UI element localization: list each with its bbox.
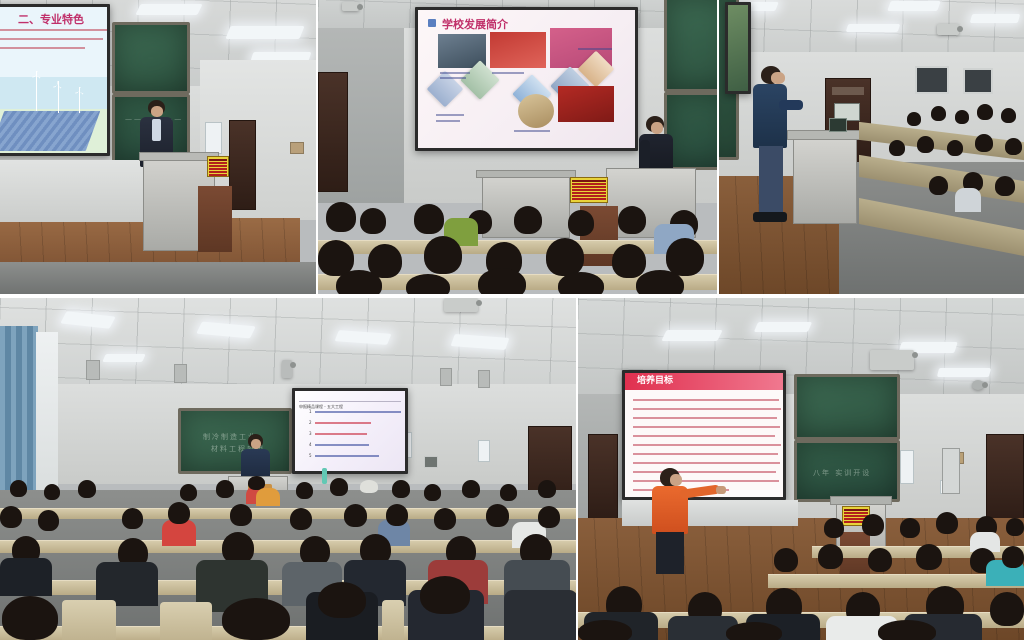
solar-panel-graphic <box>0 111 100 151</box>
slide-label <box>440 77 466 79</box>
slide-label <box>492 72 524 74</box>
ceiling-light <box>225 26 304 39</box>
audience <box>0 474 577 640</box>
slide-logo <box>518 94 554 128</box>
audience-head <box>578 620 632 640</box>
slide-label <box>578 48 612 50</box>
list-text-bar <box>315 411 401 413</box>
presenter-arm <box>779 100 803 110</box>
audience-head <box>386 504 408 526</box>
slide-body-line <box>633 444 781 446</box>
audience-head <box>977 104 993 120</box>
chalkboard: 制冷制造工业 材料工程应用 <box>178 408 292 474</box>
audience-head <box>889 140 905 156</box>
audience-head <box>824 518 844 538</box>
audience-torso <box>955 188 981 212</box>
audience-head <box>907 112 921 126</box>
audience-head <box>878 620 936 640</box>
audience-head <box>538 480 556 498</box>
ceiling-light <box>102 354 146 362</box>
audience-head <box>514 206 542 234</box>
podium <box>793 138 857 224</box>
audience-head <box>936 512 958 534</box>
presenter-face <box>771 72 785 84</box>
panel-divider <box>0 294 1024 298</box>
audience-head <box>2 596 58 640</box>
slide-surface: 申报精品课程 - 五大工程 1 2 3 4 <box>295 391 405 471</box>
list-text-bar <box>315 433 367 435</box>
audience-head <box>568 210 594 236</box>
list-number: 5 <box>309 453 312 458</box>
wall-speaker <box>86 360 100 380</box>
presenter-shirt <box>152 119 161 141</box>
audience-head <box>990 592 1024 626</box>
chalkboard <box>794 374 900 440</box>
wall-speaker <box>440 368 452 386</box>
slide-title-bullet <box>428 19 436 27</box>
list-number: 3 <box>309 431 312 436</box>
audience-head <box>392 480 410 498</box>
stage-riser <box>0 160 150 222</box>
ceiling-light <box>846 24 901 32</box>
audience-torso <box>0 558 52 596</box>
presenter-jacket <box>753 84 787 148</box>
projection-screen: 二、专业特色 <box>0 4 110 156</box>
slide-title: 培养目标 <box>625 373 783 390</box>
wall-notice <box>205 122 222 154</box>
audience-head <box>0 506 22 528</box>
slide-list-item: 3 <box>309 431 367 436</box>
panel-top-center[interactable]: 学校发展简介 <box>318 0 718 296</box>
audience-head <box>917 136 934 153</box>
panel-top-left[interactable]: 二、专业特色 ———— —— <box>0 0 317 296</box>
audience-head <box>916 544 942 570</box>
presenter <box>749 66 801 230</box>
presenter-face <box>651 122 663 134</box>
audience-head <box>1005 138 1022 155</box>
audience-head <box>434 508 456 530</box>
audience <box>578 508 1024 640</box>
audience-head <box>900 518 920 538</box>
door <box>318 72 348 192</box>
list-text-bar <box>315 422 371 424</box>
audience-head <box>360 208 386 234</box>
audience-head <box>931 106 946 121</box>
presenter-legs <box>759 146 783 214</box>
audience-cap <box>360 480 378 493</box>
door-sign <box>478 440 490 462</box>
audience-head <box>862 514 884 536</box>
slide-photo <box>490 32 546 68</box>
audience-head <box>666 238 704 276</box>
projector <box>342 2 359 11</box>
slide-body-line <box>633 417 777 419</box>
panel-divider <box>316 0 318 298</box>
safety-notice-sign[interactable] <box>207 156 229 177</box>
panel-top-right[interactable] <box>719 0 1024 296</box>
presenter-face <box>670 474 682 486</box>
audience-torso <box>504 590 577 640</box>
panel-bottom-left[interactable]: 制冷制造工业 材料工程应用 申报精品课程 - 五大工程 1 2 3 <box>0 298 577 640</box>
equipment-cabinet <box>942 448 960 494</box>
slide-body-line <box>633 399 779 401</box>
slide-label <box>440 72 470 74</box>
audience-head <box>296 482 313 499</box>
audience-head <box>955 110 969 124</box>
slide-list-item: 2 <box>309 420 371 425</box>
ceiling-light <box>661 330 722 341</box>
list-number: 1 <box>309 409 312 414</box>
panel-bottom-right[interactable]: 培养目标 八年 实训开设 <box>578 298 1024 640</box>
slide-title: 二、专业特色 <box>0 11 107 27</box>
bench-row <box>859 122 1024 160</box>
audience-head <box>38 510 59 531</box>
chalkboard <box>664 0 718 92</box>
panel-divider <box>717 0 719 298</box>
audience-head <box>330 478 348 496</box>
audience-head <box>1002 546 1024 568</box>
audience-torso <box>256 488 280 506</box>
audience-head <box>546 238 584 276</box>
slide-body-line <box>0 38 103 40</box>
audience-head <box>612 244 646 278</box>
slide-body-line <box>633 462 780 464</box>
audience-head <box>478 268 526 296</box>
panel-divider <box>576 298 578 640</box>
seat-back <box>62 600 116 640</box>
audience-head <box>406 274 450 296</box>
wall-plate <box>424 456 438 468</box>
chalk-writing: 八年 实训开设 <box>813 467 871 479</box>
wind-turbine-icon <box>31 71 41 111</box>
audience-head <box>44 484 60 500</box>
audience-head <box>500 484 517 501</box>
wall-speaker <box>174 364 187 383</box>
ceiling-light <box>754 322 812 332</box>
dome-camera <box>972 380 984 390</box>
chalkboard <box>112 22 190 94</box>
audience-head <box>929 176 948 195</box>
interior-window <box>915 66 949 94</box>
projection-screen: 学校发展简介 <box>415 7 638 151</box>
presenter-shoes <box>753 212 787 222</box>
wall-notice <box>900 450 914 484</box>
audience-head <box>336 270 382 296</box>
projector <box>870 350 914 370</box>
slide-header: 申报精品课程 - 五大工程 <box>299 393 401 402</box>
wall-speaker <box>478 370 490 388</box>
floor <box>0 262 317 296</box>
wind-turbine-icon <box>75 87 83 113</box>
bench-row <box>859 198 1024 256</box>
audience-head <box>318 582 366 618</box>
seat-back <box>160 602 212 640</box>
audience-head <box>122 508 143 529</box>
ceiling-light <box>937 368 991 377</box>
slide-surface: 学校发展简介 <box>418 10 635 148</box>
audience-head <box>168 502 190 524</box>
audience-head <box>1006 518 1024 536</box>
audience-head <box>774 548 798 572</box>
audience-head <box>462 480 480 498</box>
ceiling-light <box>135 4 202 15</box>
audience-head <box>78 480 96 498</box>
audience-head <box>636 270 684 296</box>
projector <box>444 298 478 312</box>
audience-head <box>538 506 560 528</box>
audience-head <box>290 508 312 530</box>
slide-list-item: 5 <box>309 453 379 458</box>
audience-head <box>726 622 782 640</box>
slide-body-line <box>633 408 781 410</box>
presenter-hand <box>716 486 726 494</box>
podium-top <box>830 496 892 505</box>
audience-head <box>424 236 462 274</box>
wind-turbine-icon <box>53 81 62 113</box>
interior-window <box>963 68 993 94</box>
slide-label <box>436 120 460 122</box>
audience-head <box>947 140 963 156</box>
door <box>229 120 256 210</box>
photo-collage: 二、专业特色 ———— —— <box>0 0 1024 640</box>
audience-head <box>414 204 444 234</box>
wall-plate <box>290 142 304 154</box>
slide-list-item: 1 <box>309 409 401 414</box>
list-text-bar <box>315 444 369 446</box>
audience-head <box>868 548 892 572</box>
audience-head <box>230 504 252 526</box>
chalkboard: 八年 实训开设 <box>794 440 900 502</box>
list-number: 4 <box>309 442 312 447</box>
seat-back <box>382 600 404 640</box>
projector <box>937 24 959 35</box>
audience-head <box>995 176 1015 196</box>
audience <box>318 188 718 296</box>
slide-body-line <box>633 435 775 437</box>
slide-label <box>436 114 464 116</box>
audience-head <box>618 206 646 234</box>
desk-row <box>0 540 577 553</box>
presenter-arm <box>640 140 650 170</box>
audience-head <box>558 272 604 296</box>
audience-head <box>10 480 27 497</box>
audience-head <box>818 544 843 569</box>
audience-head <box>424 484 441 501</box>
audience-head <box>326 202 356 232</box>
slide-list-item: 4 <box>309 442 369 447</box>
audience-head <box>1001 108 1016 123</box>
slide-surface <box>728 5 748 91</box>
audience-head <box>486 504 509 527</box>
projector <box>282 360 292 378</box>
slide-surface: 二、专业特色 <box>0 7 107 153</box>
slide-body-line <box>0 47 85 49</box>
audience-head <box>975 134 993 152</box>
ceiling-light <box>887 1 941 11</box>
presenter-face <box>251 439 261 449</box>
audience-head <box>180 484 197 501</box>
slide-body-line <box>633 426 780 428</box>
list-number: 2 <box>309 420 312 425</box>
slide-body-line <box>633 453 778 455</box>
audience-head <box>222 598 290 640</box>
audience <box>859 92 1024 292</box>
monitor <box>829 118 847 132</box>
slide-photo <box>558 86 614 122</box>
ceiling-light <box>970 14 1021 23</box>
podium-panel <box>198 186 232 252</box>
presenter-face <box>151 106 163 117</box>
audience-head <box>216 480 234 498</box>
audience-head <box>344 504 367 527</box>
slide-title-bar: 培养目标 <box>625 373 783 390</box>
lectern-top <box>476 170 576 178</box>
slide-body-line <box>0 29 107 31</box>
list-text-bar <box>315 455 379 457</box>
projection-screen <box>725 2 751 94</box>
projection-screen: 申报精品课程 - 五大工程 1 2 3 4 <box>292 388 408 474</box>
audience-head <box>420 576 470 614</box>
slide-label <box>514 130 550 132</box>
